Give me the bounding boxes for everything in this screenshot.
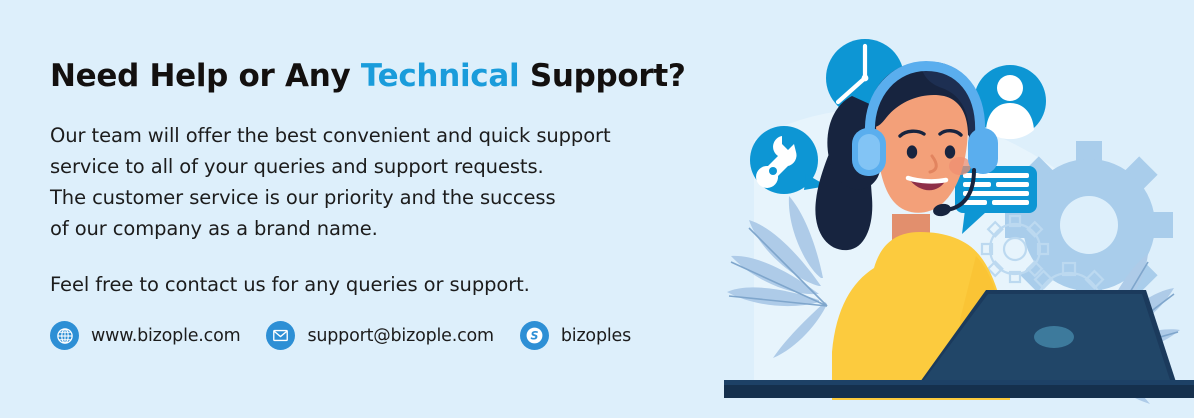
email-label: support@bizople.com: [307, 326, 493, 346]
skype-label: bizoples: [561, 326, 631, 346]
support-banner: Need Help or Any Technical Support? Our …: [0, 0, 1194, 418]
svg-text:S: S: [530, 330, 538, 343]
description-line: service to all of your queries and suppo…: [50, 151, 740, 182]
envelope-icon: [266, 321, 295, 350]
description-line: The customer service is our priority and…: [50, 182, 740, 213]
contact-item-website[interactable]: www.bizople.com: [50, 321, 240, 350]
headline-part-1: Need Help or Any: [50, 58, 361, 94]
desk: [724, 380, 1194, 398]
description-paragraph: Our team will offer the best convenient …: [50, 120, 740, 244]
support-agent-illustration: [724, 0, 1194, 418]
call-to-action-text: Feel free to contact us for any queries …: [50, 269, 740, 300]
globe-icon: [50, 321, 79, 350]
contact-item-skype[interactable]: S bizoples: [520, 321, 631, 350]
headline-part-2: Support?: [519, 58, 685, 94]
contact-row: www.bizople.com support@bizople.com S bi…: [50, 321, 657, 350]
description-line: Our team will offer the best convenient …: [50, 120, 740, 151]
content-column: Need Help or Any Technical Support? Our …: [50, 58, 740, 300]
description-line: of our company as a brand name.: [50, 213, 740, 244]
website-label: www.bizople.com: [91, 326, 240, 346]
contact-item-email[interactable]: support@bizople.com: [266, 321, 493, 350]
skype-icon: S: [520, 321, 549, 350]
page-title: Need Help or Any Technical Support?: [50, 58, 740, 94]
headline-accent-word: Technical: [361, 58, 519, 94]
